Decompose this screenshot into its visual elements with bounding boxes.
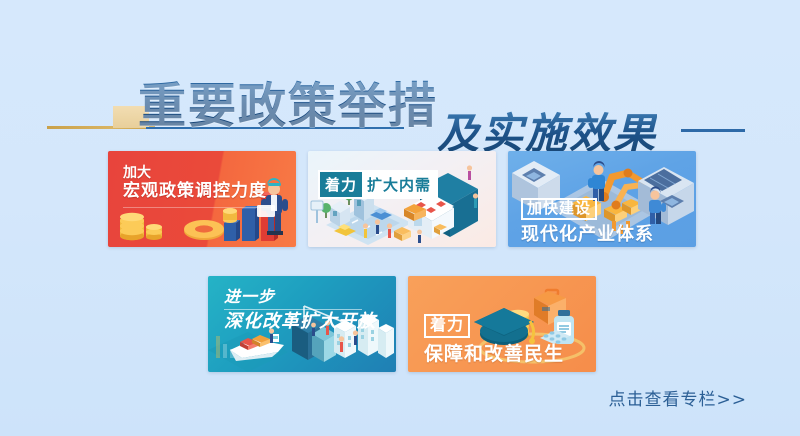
card-deepen-reform-divider xyxy=(224,309,362,310)
card-deepen-reform[interactable]: 进一步 深化改革扩大开放 xyxy=(208,276,396,372)
card-macro-policy-line1: 加大 xyxy=(123,164,267,181)
card-improve-livelihood-line1: 着力 xyxy=(424,314,470,338)
card-macro-policy-caption: 加大 宏观政策调控力度 xyxy=(123,164,267,202)
card-modern-industry-caption: 加快建设 现代化产业体系 xyxy=(521,198,654,246)
card-deepen-reform-line2: 深化改革扩大开放 xyxy=(224,311,376,333)
card-expand-demand-line2: 扩大内需 xyxy=(362,172,436,197)
card-macro-policy-divider xyxy=(123,207,273,208)
card-macro-policy[interactable]: 加大 宏观政策调控力度 xyxy=(108,151,296,247)
card-expand-demand-line1: 着力 xyxy=(320,172,362,197)
card-modern-industry-line2: 现代化产业体系 xyxy=(521,224,654,246)
page-title-line1: 重要政策举措 xyxy=(138,66,438,136)
card-expand-demand-art xyxy=(308,151,496,247)
poster-stage: 重要政策举措 及实施效果 xyxy=(0,0,800,436)
poster-title-block: 重要政策举措 及实施效果 xyxy=(0,30,800,125)
card-improve-livelihood[interactable]: 着力 保障和改善民生 xyxy=(408,276,596,372)
blue-rule-right xyxy=(681,129,745,132)
isometric-city-illustration xyxy=(308,151,496,247)
card-macro-policy-line2: 宏观政策调控力度 xyxy=(123,181,267,202)
card-modern-industry[interactable]: 加快建设 现代化产业体系 xyxy=(508,151,696,247)
card-deepen-reform-line1: 进一步 xyxy=(224,288,376,308)
card-improve-livelihood-caption: 着力 保障和改善民生 xyxy=(424,314,564,366)
card-improve-livelihood-line2: 保障和改善民生 xyxy=(424,343,564,366)
card-expand-demand-caption: 着力 扩大内需 xyxy=(318,170,438,199)
card-deepen-reform-caption: 进一步 深化改革扩大开放 xyxy=(224,288,376,332)
card-expand-demand[interactable]: 着力 扩大内需 xyxy=(308,151,496,247)
view-column-link[interactable]: 点击查看专栏>> xyxy=(609,385,748,410)
card-modern-industry-line1: 加快建设 xyxy=(521,198,597,220)
